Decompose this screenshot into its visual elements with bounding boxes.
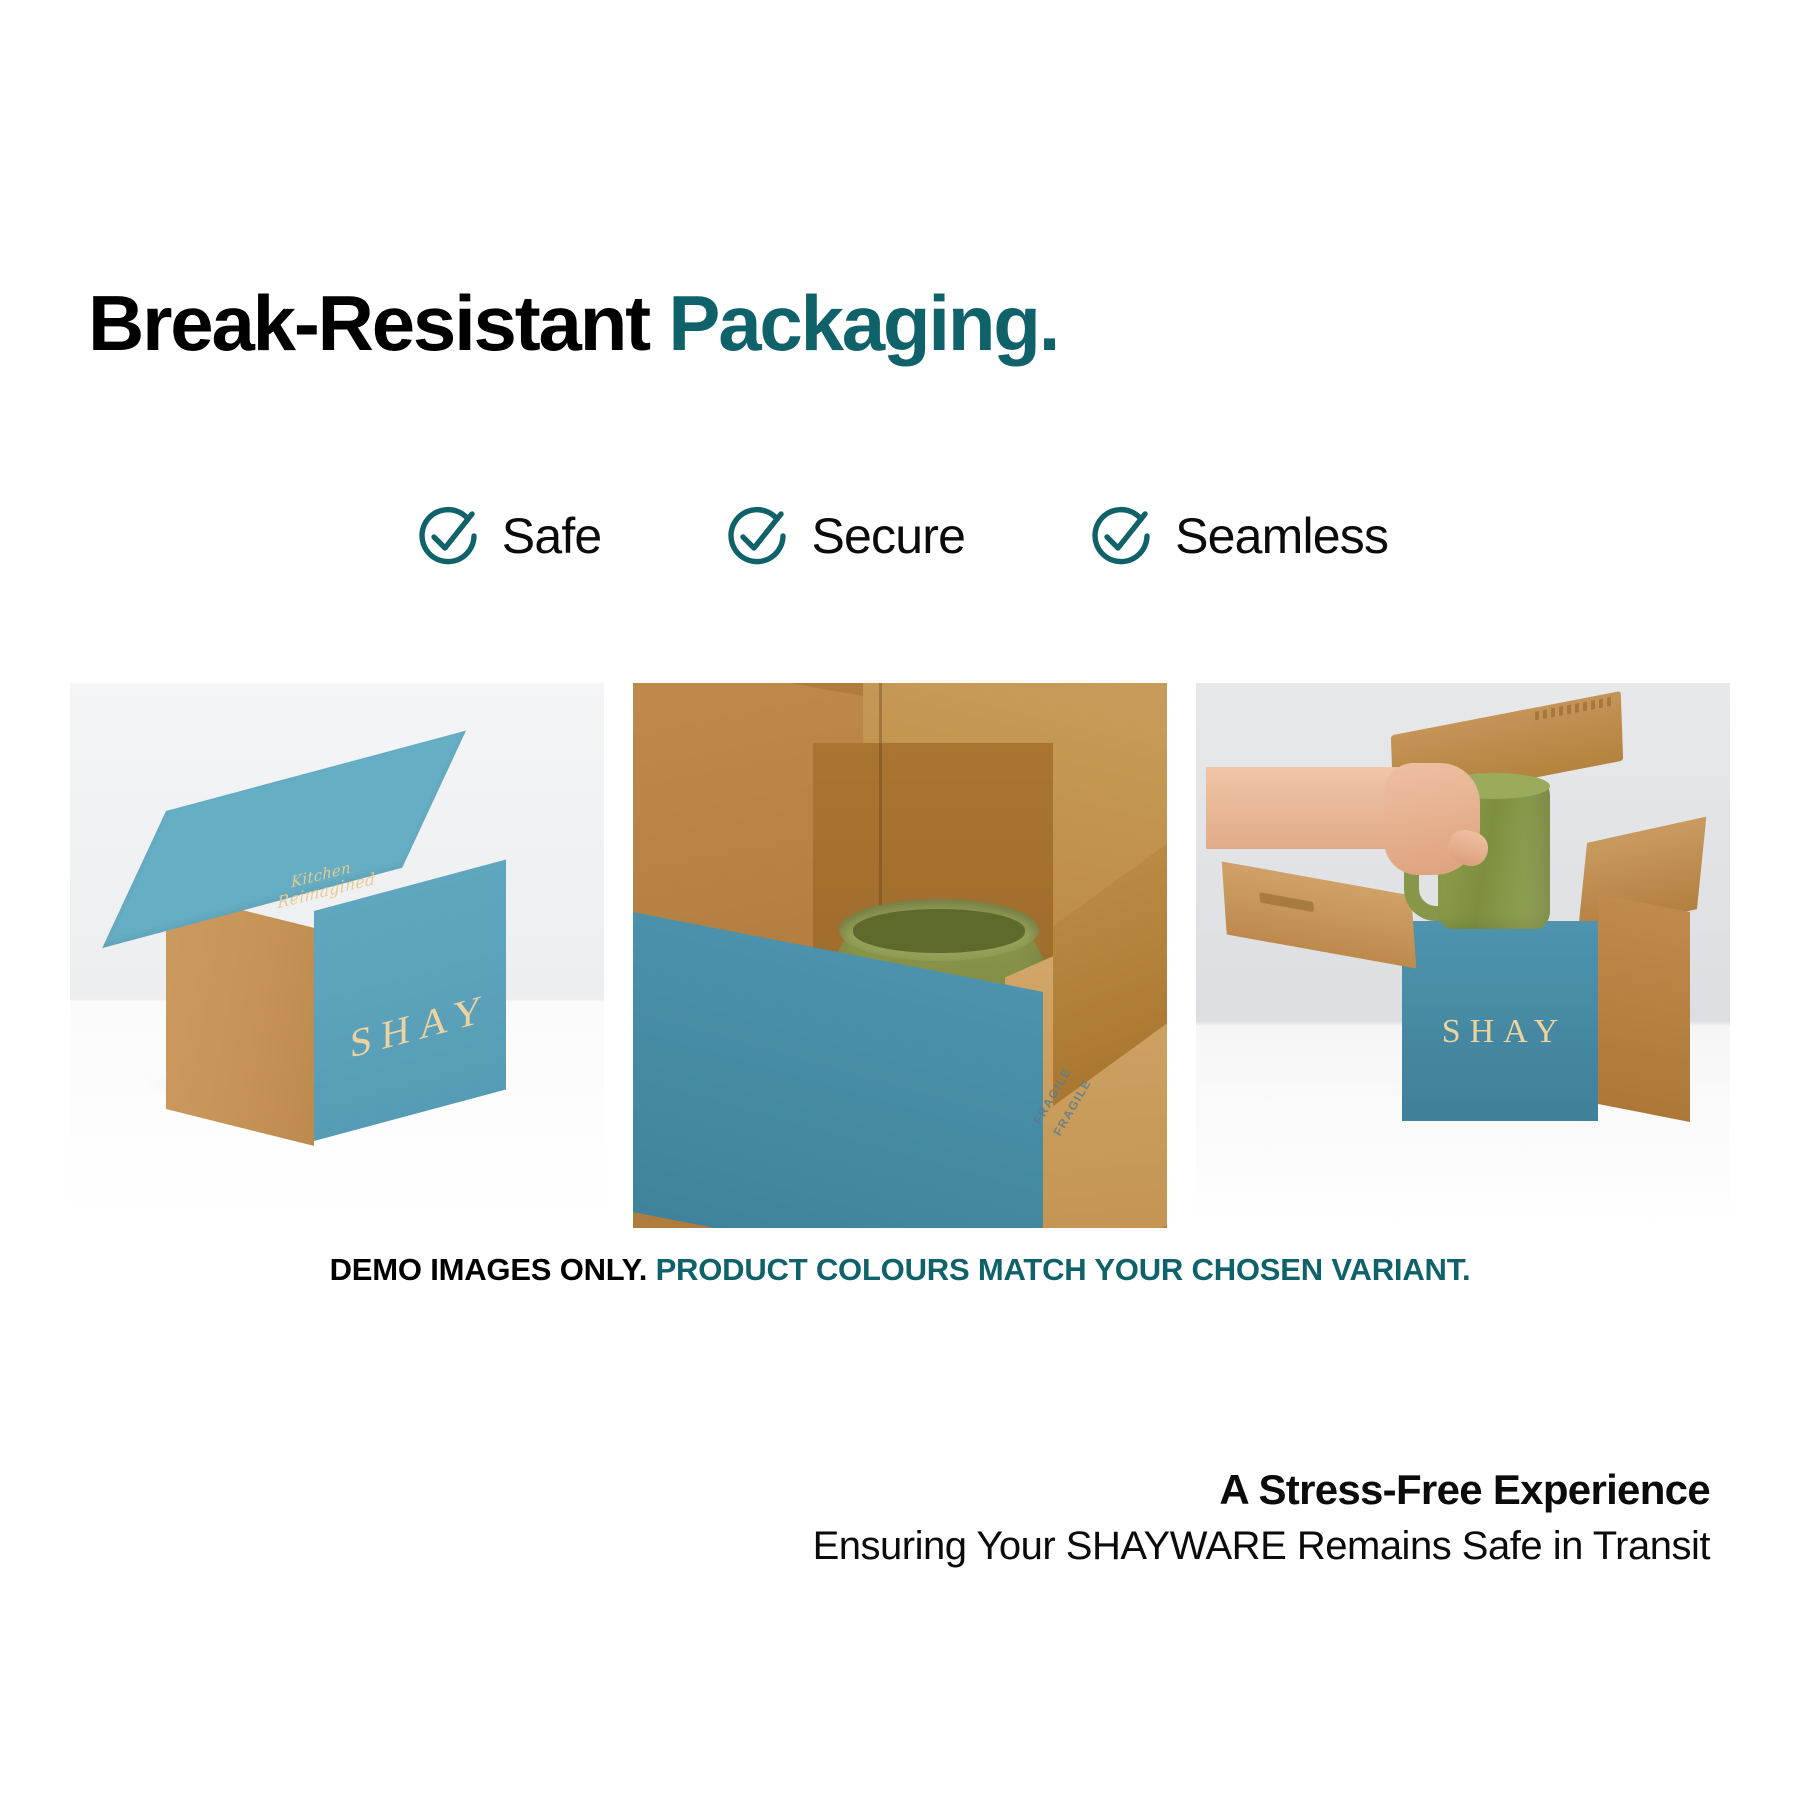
badge-seamless: Seamless <box>1085 500 1388 572</box>
photo-open-box-with-bowl: FRAGILE FRAGILE <box>633 683 1167 1228</box>
check-circle-icon <box>721 500 793 572</box>
footer-title: A Stress-Free Experience <box>813 1465 1710 1515</box>
box-flap-left <box>1222 861 1417 968</box>
green-bowl-rim <box>839 899 1039 961</box>
badge-label: Secure <box>811 511 965 561</box>
disclaimer-caption: DEMO IMAGES ONLY. PRODUCT COLOURS MATCH … <box>0 1252 1800 1288</box>
box-left-face <box>166 891 314 1146</box>
product-photo-strip: Kitchen Reimagined SHAY FRAGILE FRAGILE … <box>70 683 1730 1228</box>
feature-badge-row: Safe Secure Seamless <box>0 500 1800 572</box>
page-title-primary: Break-Resistant <box>88 279 668 367</box>
disclaimer-accent: PRODUCT COLOURS MATCH YOUR CHOSEN VARIAN… <box>656 1252 1471 1287</box>
badge-secure: Secure <box>721 500 965 572</box>
badge-label: Seamless <box>1175 511 1388 561</box>
footer-subtitle: Ensuring Your SHAYWARE Remains Safe in T… <box>813 1523 1710 1570</box>
page-title: Break-Resistant Packaging. <box>88 284 1058 362</box>
disclaimer-primary: DEMO IMAGES ONLY. <box>330 1252 656 1287</box>
badge-label: Safe <box>502 511 602 561</box>
box-brand-text: SHAY <box>1408 1013 1592 1051</box>
photo-hand-placing-mug: SHAY <box>1196 683 1730 1228</box>
photo-closed-shipping-box: Kitchen Reimagined SHAY <box>70 683 604 1228</box>
badge-safe: Safe <box>412 500 602 572</box>
footer-block: A Stress-Free Experience Ensuring Your S… <box>813 1465 1710 1570</box>
box-side-face <box>1598 894 1690 1122</box>
check-circle-icon <box>1085 500 1157 572</box>
page-title-accent: Packaging. <box>668 279 1058 367</box>
check-circle-icon <box>412 500 484 572</box>
